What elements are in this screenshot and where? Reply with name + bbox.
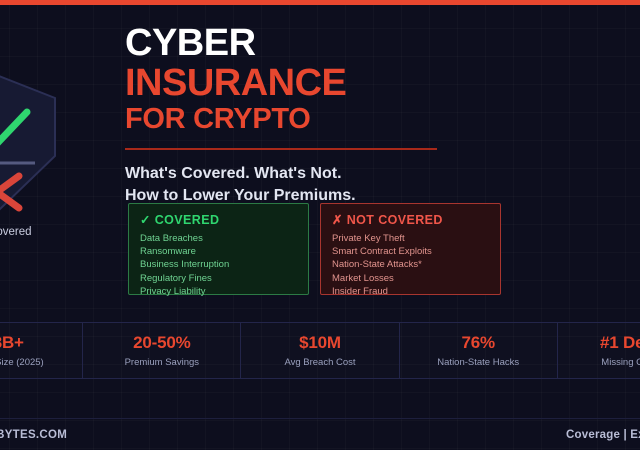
list-item: Data Breaches <box>140 232 297 245</box>
stat-label: Nation-State Hacks <box>437 357 519 368</box>
footer-brand: CRYPTOBYTES.COM <box>0 429 67 441</box>
coverage-panels: ✓ COVERED Data Breaches Ransomware Busin… <box>128 203 501 295</box>
list-item: Business Interruption <box>140 258 297 271</box>
infographic-stage: Not Covered CYBER INSURANCE FOR CRYPTO W… <box>0 0 640 450</box>
panel-not-covered-title: ✗ NOT COVERED <box>332 212 489 227</box>
legend: Not Covered <box>0 225 32 238</box>
shield-outline <box>0 76 55 210</box>
headline-block: CYBER INSURANCE FOR CRYPTO What's Covere… <box>125 24 525 206</box>
top-accent-bar <box>0 0 640 5</box>
panel-not-covered-list: Private Key Theft Smart Contract Exploit… <box>332 232 489 298</box>
footer: CRYPTOBYTES.COM Coverage | Exclusions <box>0 418 640 450</box>
title-line-3: FOR CRYPTO <box>125 104 525 136</box>
stats-strip: $3B+ Market Size (2025) 20-50% Premium S… <box>0 322 640 379</box>
stat-label: Market Size (2025) <box>0 357 44 368</box>
stat-value: 20-50% <box>133 333 190 353</box>
list-item: Privacy Liability <box>140 285 297 298</box>
stat-value: $3B+ <box>0 333 24 353</box>
panel-covered-title: ✓ COVERED <box>140 212 297 227</box>
stat-premium-savings: 20-50% Premium Savings <box>83 323 241 378</box>
title-line-2: INSURANCE <box>125 64 525 104</box>
subtitle-line-1: What's Covered. What's Not. <box>125 163 525 185</box>
list-item: Market Losses <box>332 272 489 285</box>
stat-value: 76% <box>461 333 494 353</box>
list-item: Regulatory Fines <box>140 272 297 285</box>
panel-not-covered: ✗ NOT COVERED Private Key Theft Smart Co… <box>320 203 501 295</box>
stat-top-denial: #1 Denial Missing Controls <box>558 323 640 378</box>
panel-covered-title-text: COVERED <box>155 213 220 227</box>
list-item: Nation-State Attacks* <box>332 258 489 271</box>
panel-not-covered-title-text: NOT COVERED <box>347 213 443 227</box>
shield-badge <box>0 72 63 214</box>
title-line-1: CYBER <box>125 24 525 64</box>
list-item: Insider Fraud <box>332 285 489 298</box>
list-item: Ransomware <box>140 245 297 258</box>
stat-label: Premium Savings <box>125 357 199 368</box>
stat-market-size: $3B+ Market Size (2025) <box>0 323 83 378</box>
stat-label: Missing Controls <box>601 357 640 368</box>
list-item: Private Key Theft <box>332 232 489 245</box>
list-item: Smart Contract Exploits <box>332 245 489 258</box>
legend-label-not-covered: Not Covered <box>0 226 32 238</box>
stat-value: #1 Denial <box>600 333 640 353</box>
panel-covered: ✓ COVERED Data Breaches Ransomware Busin… <box>128 203 309 295</box>
cross-icon: ✗ <box>332 213 343 227</box>
check-icon: ✓ <box>140 213 151 227</box>
panel-covered-list: Data Breaches Ransomware Business Interr… <box>140 232 297 298</box>
stat-label: Avg Breach Cost <box>284 357 355 368</box>
footer-nav[interactable]: Coverage | Exclusions <box>566 429 640 441</box>
stat-nation-state-hacks: 76% Nation-State Hacks <box>400 323 558 378</box>
title-underline <box>125 148 437 150</box>
stat-value: $10M <box>299 333 341 353</box>
stat-avg-breach-cost: $10M Avg Breach Cost <box>241 323 399 378</box>
